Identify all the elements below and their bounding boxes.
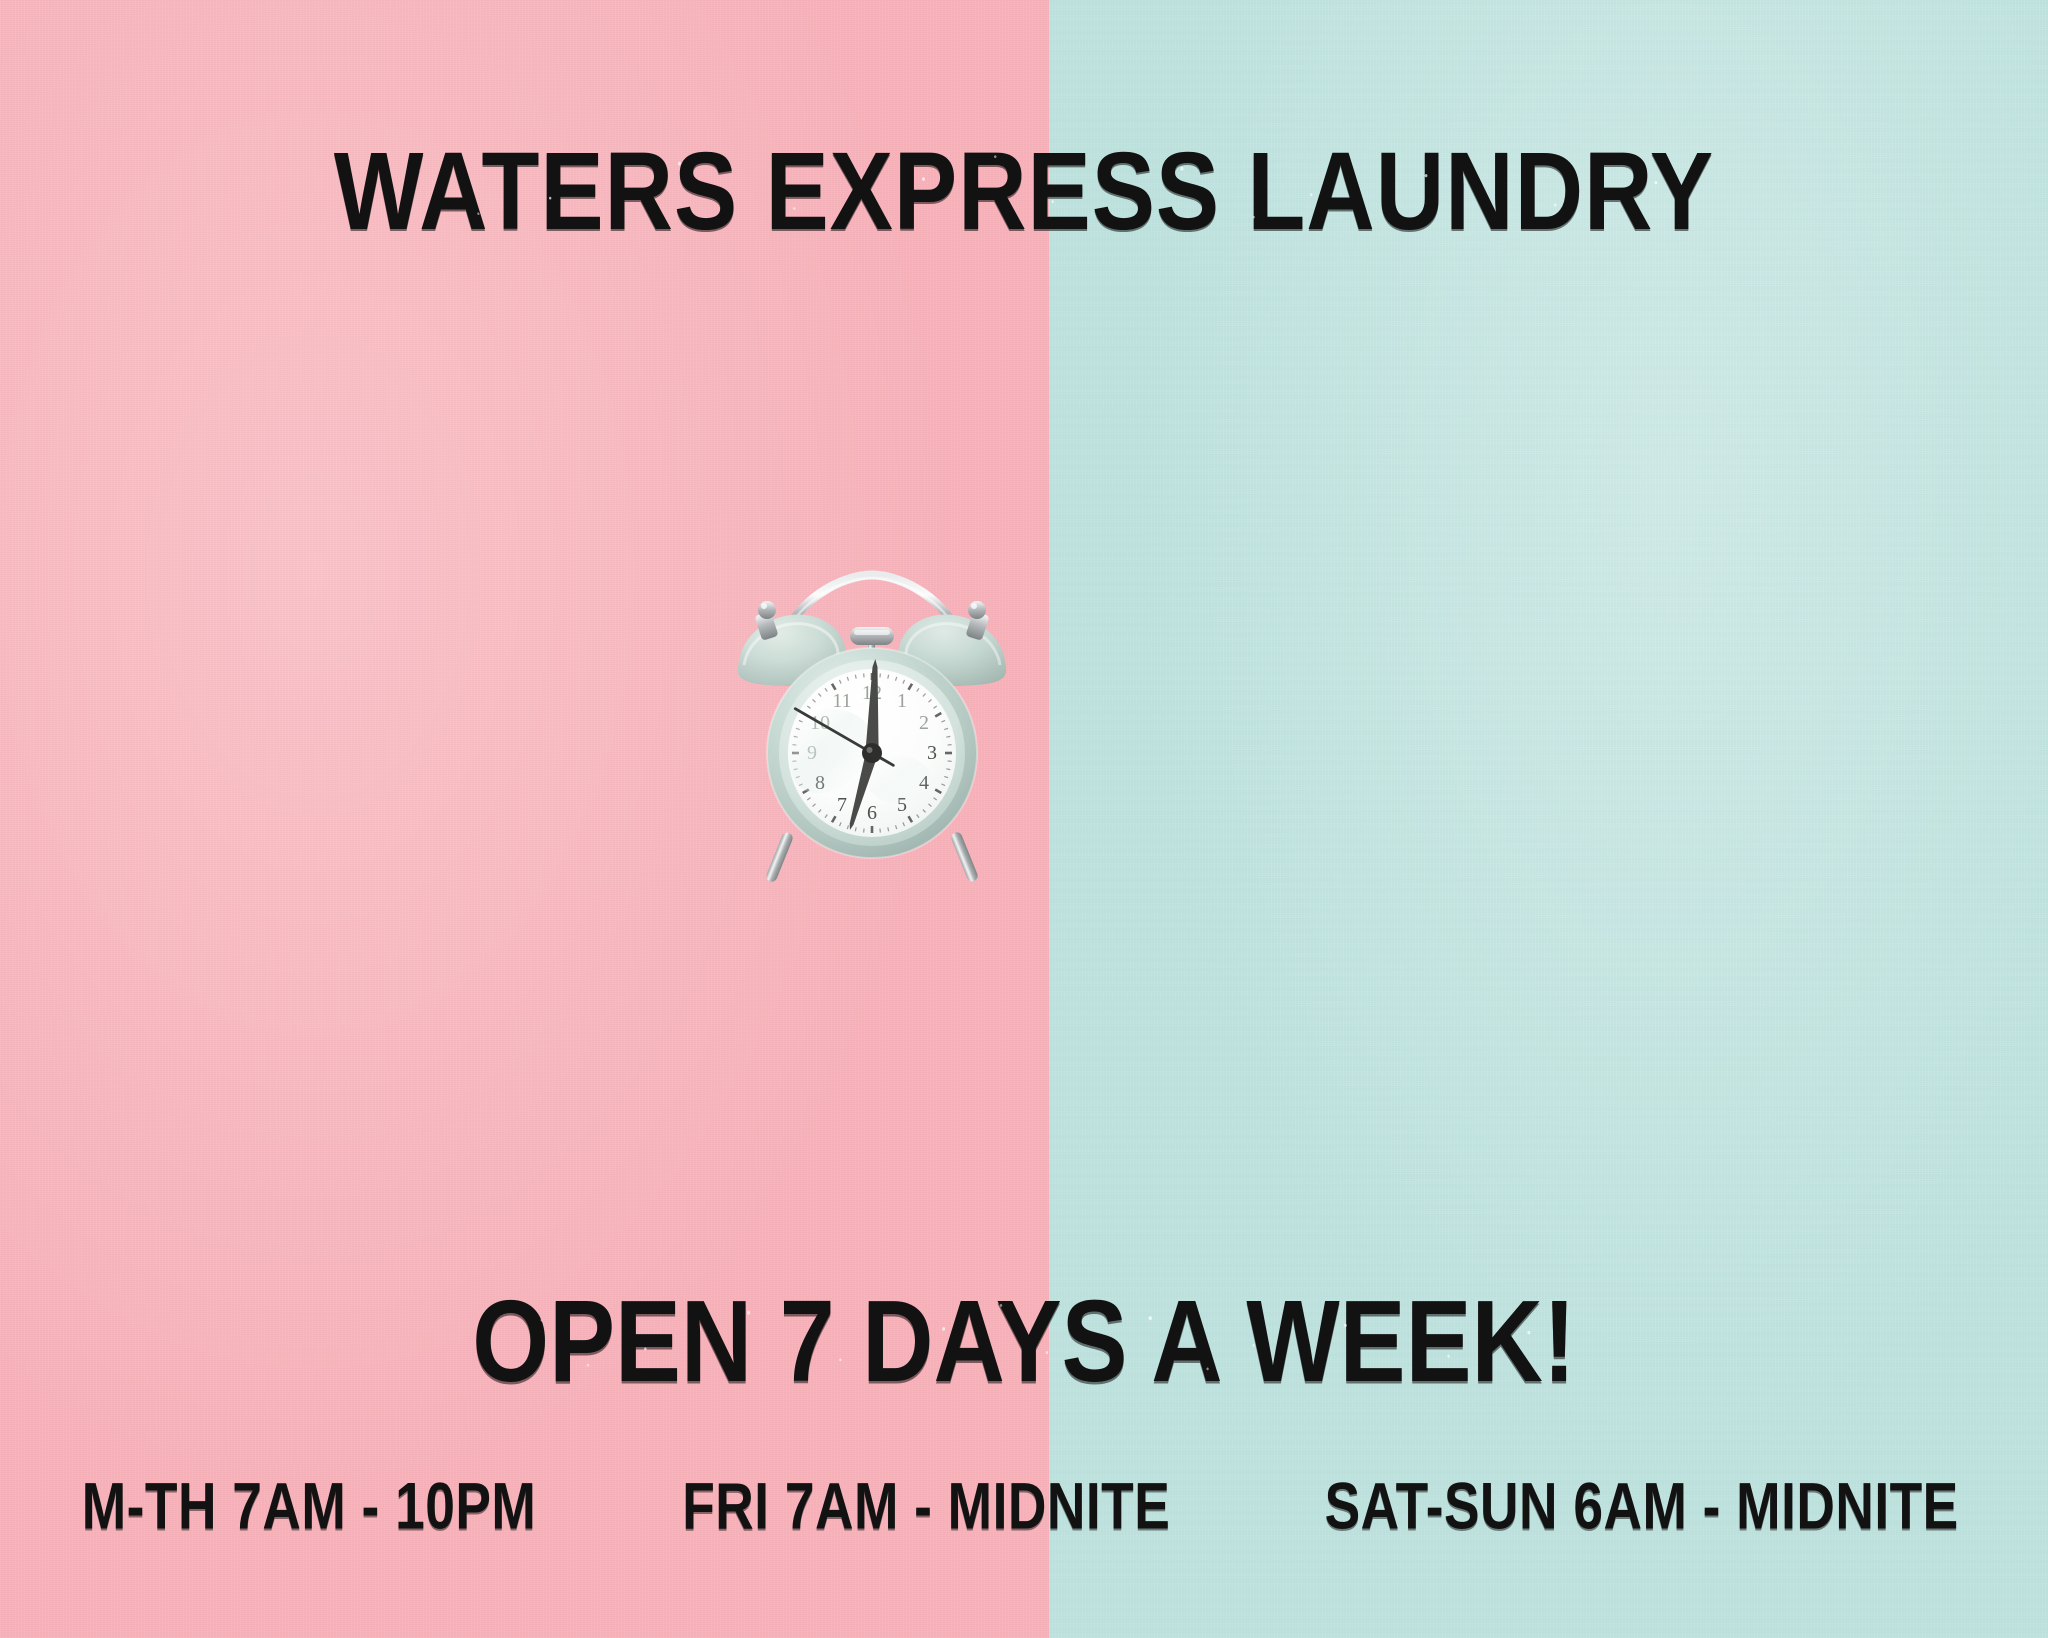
poster-canvas: WATERS EXPRESS LAUNDRY: [0, 0, 2048, 1638]
subheadline-text: OPEN 7 DAYS A WEEK!: [472, 1284, 1575, 1400]
clock-numeral-2: 2: [919, 712, 929, 734]
hours-item-weekend: SAT-SUN 6AM - MIDNITE: [1324, 1474, 1958, 1540]
alarm-clock-icon: 121234567891011: [722, 555, 1022, 895]
page-title: WATERS EXPRESS LAUNDRY: [72, 136, 1977, 246]
clock-numeral-1: 1: [897, 690, 907, 712]
clock-numeral-11: 11: [832, 690, 851, 712]
hours-row: M-TH 7AM - 10PM FRI 7AM - MIDNITE SAT-SU…: [0, 1478, 2048, 1536]
hours-item-weekday: M-TH 7AM - 10PM: [82, 1474, 537, 1540]
clock-numeral-7: 7: [837, 794, 847, 816]
hours-item-friday: FRI 7AM - MIDNITE: [682, 1474, 1170, 1540]
subheadline: OPEN 7 DAYS A WEEK!: [51, 1284, 1997, 1400]
page-title-text: WATERS EXPRESS LAUNDRY: [334, 136, 1714, 246]
clock-numeral-3: 3: [927, 742, 937, 764]
clock-numeral-6: 6: [867, 802, 877, 824]
